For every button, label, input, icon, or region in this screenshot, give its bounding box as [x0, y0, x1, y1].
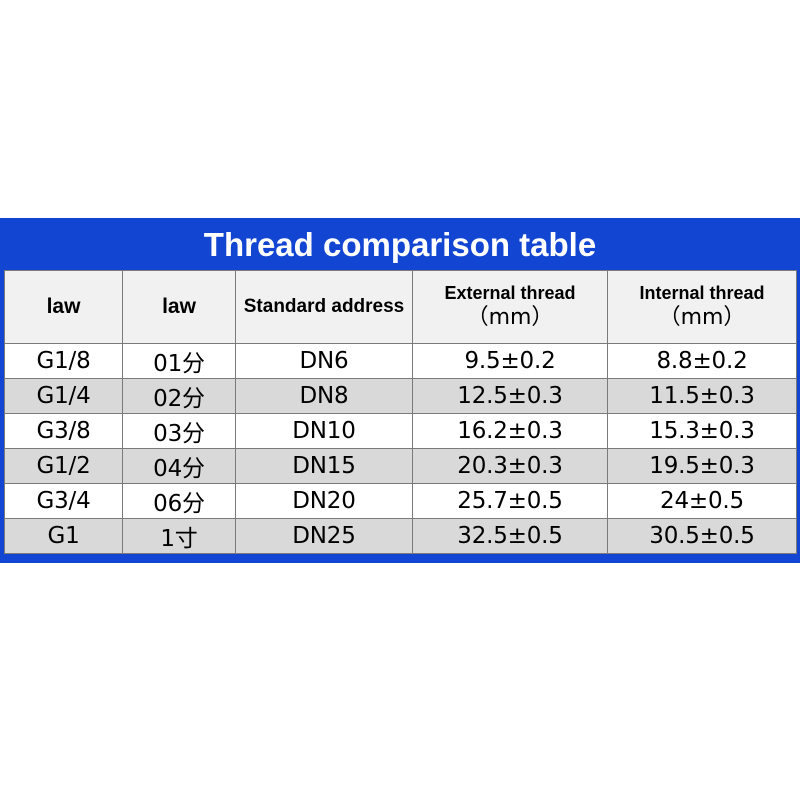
page-title: Thread comparison table: [204, 228, 596, 261]
cell-internal-thread: 24±0.5: [608, 484, 797, 519]
column-header-law-g-label: law: [5, 295, 122, 320]
cell-law-g: G1/8: [5, 344, 123, 379]
table-body: G1/8 01分 DN6 9.5±0.2 8.8±0.2 G1/4 02分 DN…: [5, 344, 797, 554]
page-root: Thread comparison table law law Standard…: [0, 0, 800, 800]
cell-external-thread: 9.5±0.2: [413, 344, 608, 379]
cell-internal-thread: 11.5±0.3: [608, 379, 797, 414]
cell-internal-thread: 15.3±0.3: [608, 414, 797, 449]
cell-internal-thread: 8.8±0.2: [608, 344, 797, 379]
column-header-internal-thread-label: Internal thread: [608, 283, 796, 304]
column-header-external-thread-unit: （mm）: [413, 305, 607, 331]
cell-external-thread: 16.2±0.3: [413, 414, 608, 449]
cell-law-g: G1/2: [5, 449, 123, 484]
column-header-law-fen: law: [123, 271, 236, 344]
cell-external-thread: 20.3±0.3: [413, 449, 608, 484]
cell-internal-thread: 30.5±0.5: [608, 519, 797, 554]
cell-law-fen: 02分: [123, 379, 236, 414]
cell-law-g: G1/4: [5, 379, 123, 414]
cell-internal-thread: 19.5±0.3: [608, 449, 797, 484]
table-row: G1/8 01分 DN6 9.5±0.2 8.8±0.2: [5, 344, 797, 379]
cell-standard-address: DN25: [236, 519, 413, 554]
table-header: law law Standard address External thread…: [5, 271, 797, 344]
column-header-internal-thread-unit: （mm）: [608, 305, 796, 331]
cell-standard-address: DN6: [236, 344, 413, 379]
column-header-law-g: law: [5, 271, 123, 344]
column-header-law-fen-label: law: [123, 295, 235, 320]
table-header-row: law law Standard address External thread…: [5, 271, 797, 344]
cell-law-fen: 03分: [123, 414, 236, 449]
table-row: G1/2 04分 DN15 20.3±0.3 19.5±0.3: [5, 449, 797, 484]
cell-law-fen: 01分: [123, 344, 236, 379]
cell-law-fen: 04分: [123, 449, 236, 484]
thread-comparison-table: law law Standard address External thread…: [4, 270, 797, 554]
cell-standard-address: DN15: [236, 449, 413, 484]
cell-law-g: G3/4: [5, 484, 123, 519]
column-header-external-thread: External thread （mm）: [413, 271, 608, 344]
cell-law-fen: 1寸: [123, 519, 236, 554]
cell-external-thread: 25.7±0.5: [413, 484, 608, 519]
cell-standard-address: DN8: [236, 379, 413, 414]
cell-external-thread: 12.5±0.3: [413, 379, 608, 414]
cell-law-g: G1: [5, 519, 123, 554]
title-band: Thread comparison table: [4, 218, 796, 270]
cell-standard-address: DN20: [236, 484, 413, 519]
cell-law-g: G3/8: [5, 414, 123, 449]
table-row: G1 1寸 DN25 32.5±0.5 30.5±0.5: [5, 519, 797, 554]
column-header-standard-address: Standard address: [236, 271, 413, 344]
column-header-internal-thread: Internal thread （mm）: [608, 271, 797, 344]
column-header-external-thread-label: External thread: [413, 283, 607, 304]
cell-standard-address: DN10: [236, 414, 413, 449]
table-row: G1/4 02分 DN8 12.5±0.3 11.5±0.3: [5, 379, 797, 414]
cell-law-fen: 06分: [123, 484, 236, 519]
column-header-standard-address-label: Standard address: [236, 296, 412, 318]
thread-comparison-panel: Thread comparison table law law Standard…: [0, 218, 800, 563]
cell-external-thread: 32.5±0.5: [413, 519, 608, 554]
table-row: G3/8 03分 DN10 16.2±0.3 15.3±0.3: [5, 414, 797, 449]
table-row: G3/4 06分 DN20 25.7±0.5 24±0.5: [5, 484, 797, 519]
